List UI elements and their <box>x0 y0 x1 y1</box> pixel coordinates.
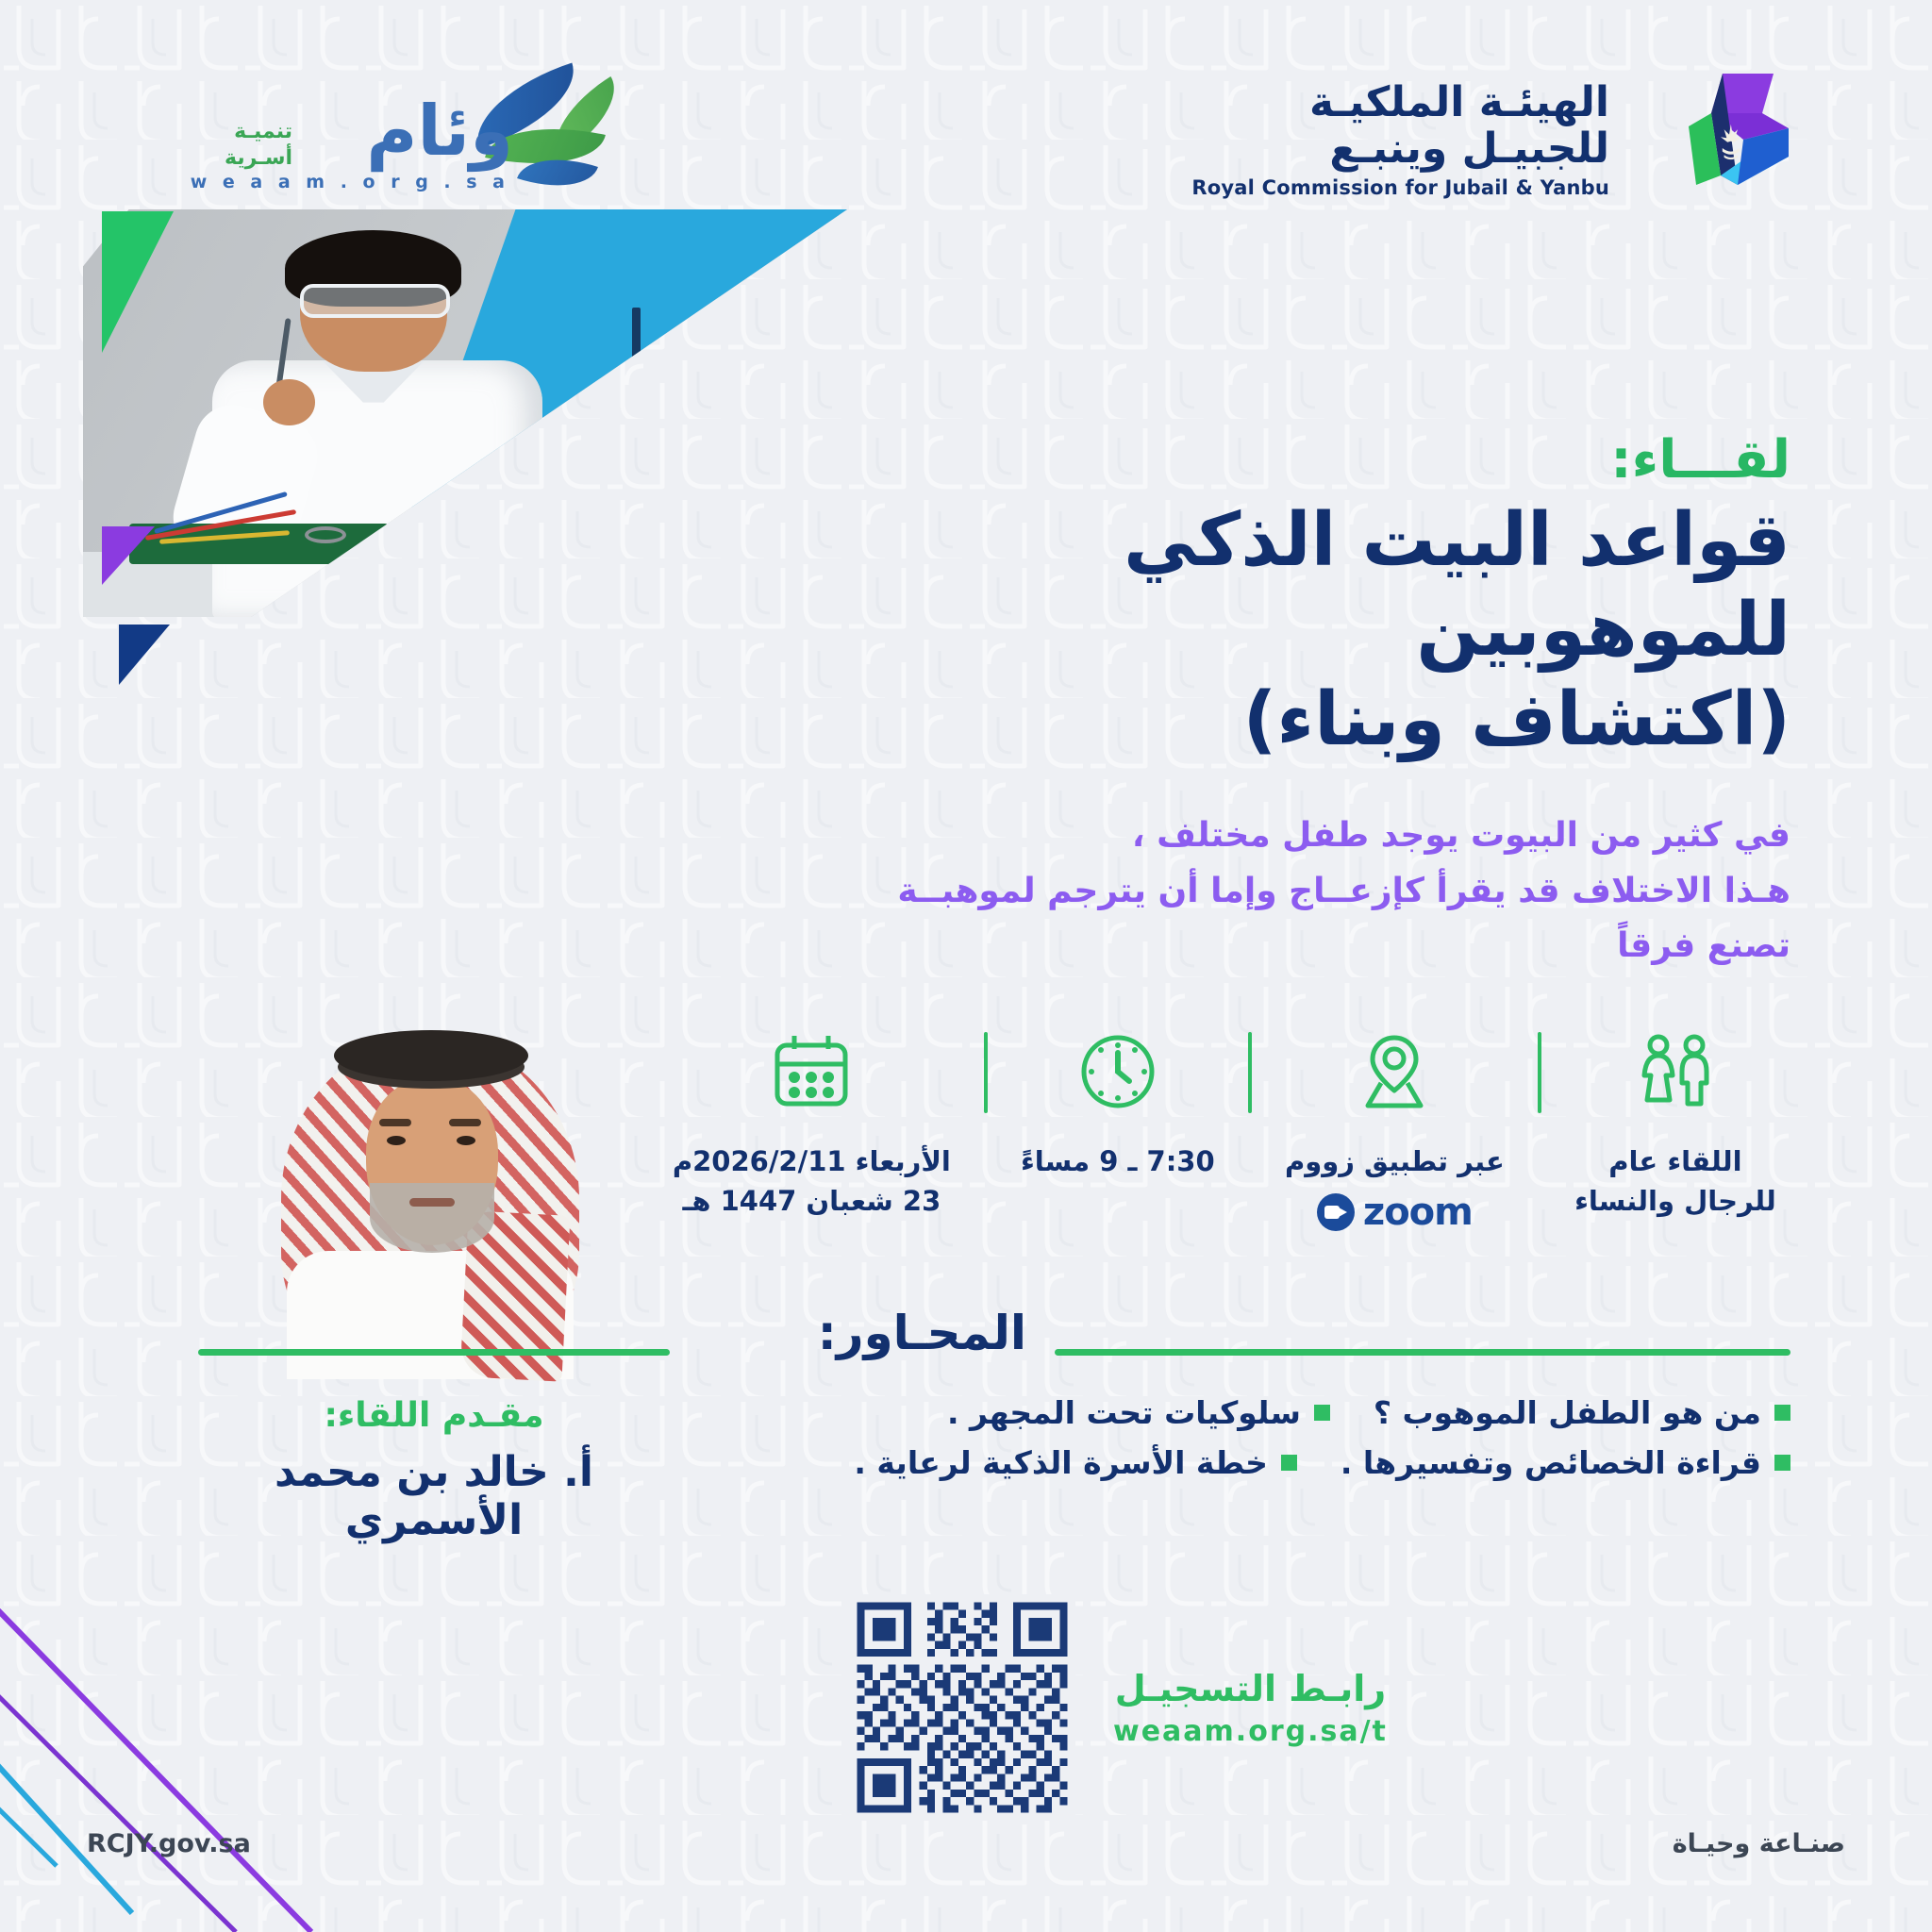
registration-label-block: رابـط التسجيـل weaam.org.sa/t <box>1113 1668 1388 1748</box>
accent-triangle-green <box>102 211 174 353</box>
info-date-line2: 23 شعبان 1447 هـ <box>673 1181 951 1221</box>
info-divider-1 <box>984 1032 988 1113</box>
location-pin-icon <box>1353 1028 1436 1115</box>
info-divider-2 <box>1248 1032 1252 1113</box>
clock-icon <box>1076 1028 1159 1115</box>
bullet-icon <box>1314 1405 1330 1421</box>
zoom-logo: zoom <box>1317 1191 1473 1234</box>
topic-item: سلوكيات تحت المجهر . <box>947 1394 1330 1431</box>
speaker-eye-left <box>387 1136 406 1145</box>
title-block: لقـــاء: قواعد البيت الذكي للموهوبين (اك… <box>838 429 1790 974</box>
topic-label: قراءة الخصائص وتفسيرها . <box>1341 1444 1761 1481</box>
poster-canvas: وئام w e a a m . o r g . s a تنميـة أسـر… <box>0 0 1932 1932</box>
topics-heading: المحـاور: <box>818 1306 1026 1360</box>
speaker-beard <box>370 1183 494 1253</box>
rcjy-logo: الهيئـة الملكيـة للجبيـل وينبـع Royal Co… <box>1191 70 1790 199</box>
bullet-icon <box>1774 1455 1790 1471</box>
event-title: قواعد البيت الذكي للموهوبين (اكتشاف وبنا… <box>838 496 1790 765</box>
hero-image-block <box>83 209 847 617</box>
zoom-wordmark: zoom <box>1363 1191 1473 1234</box>
info-divider-3 <box>1538 1032 1541 1113</box>
registration-qr-code[interactable] <box>849 1594 1075 1821</box>
info-audience-text: اللقاء عام للرجال والنساء <box>1574 1141 1776 1221</box>
calendar-icon <box>770 1028 853 1115</box>
boy-left-hand <box>263 379 314 425</box>
rcjy-emblem-icon <box>1630 70 1790 191</box>
rcjy-arabic-line1: الهيئـة الملكيـة <box>1191 79 1609 125</box>
event-title-line1: قواعد البيت الذكي للموهوبين <box>1124 498 1790 673</box>
weaam-tagline-line1: تنميـة <box>234 120 292 143</box>
info-time-text: 7:30 ـ 9 مساءً <box>1021 1141 1215 1181</box>
topics-row-1: من هو الطفل الموهوب ؟ سلوكيات تحت المجهر… <box>960 1394 1790 1431</box>
lab-stand-icon <box>632 308 641 536</box>
presenter-block: مقـدم اللقاء: أ. خالد بن محمد الأسمري <box>198 1396 670 1544</box>
info-audience-line1: اللقاء عام <box>1574 1141 1776 1181</box>
info-platform-text: عبر تطبيق زووم <box>1285 1141 1505 1181</box>
topic-item: قراءة الخصائص وتفسيرها . <box>1341 1444 1790 1481</box>
event-kicker: لقـــاء: <box>838 429 1790 491</box>
topics-row-2: قراءة الخصائص وتفسيرها . خطة الأسرة الذك… <box>960 1444 1790 1481</box>
rcjy-english-name: Royal Commission for Jubail & Yanbu <box>1191 176 1609 199</box>
presenter-rule <box>198 1349 670 1356</box>
rcjy-arabic-line2: للجبيـل وينبـع <box>1191 125 1609 172</box>
bullet-icon <box>1281 1455 1297 1471</box>
event-description: في كثير من البيوت يوجد طفل مختلف ، هـذا … <box>838 808 1790 974</box>
accent-triangle-purple <box>102 526 155 585</box>
speaker-portrait <box>260 998 600 1375</box>
info-time-line1: 7:30 ـ 9 مساءً <box>1021 1141 1215 1181</box>
topic-label: من هو الطفل الموهوب ؟ <box>1374 1394 1761 1431</box>
presenter-label: مقـدم اللقاء: <box>198 1396 670 1435</box>
speaker-brow-right <box>449 1119 481 1126</box>
info-platform-line1: عبر تطبيق زووم <box>1285 1141 1505 1181</box>
rcjy-text-block: الهيئـة الملكيـة للجبيـل وينبـع Royal Co… <box>1191 70 1609 199</box>
safety-goggles-icon <box>300 284 450 319</box>
info-item-platform: عبر تطبيق زووم zoom <box>1271 1028 1519 1234</box>
event-description-line1: في كثير من البيوت يوجد طفل مختلف ، <box>838 808 1790 863</box>
topic-item: من هو الطفل الموهوب ؟ <box>1374 1394 1790 1431</box>
topic-item: خطة الأسرة الذكية لرعاية . <box>854 1444 1296 1481</box>
lab-flask-icon <box>527 479 595 560</box>
info-item-time: 7:30 ـ 9 مساءً <box>1007 1028 1229 1181</box>
info-date-line1: الأربعاء 2026/2/11م <box>673 1141 951 1181</box>
topic-label: سلوكيات تحت المجهر . <box>947 1394 1301 1431</box>
registration-title: رابـط التسجيـل <box>1113 1668 1388 1709</box>
people-icon <box>1632 1028 1719 1115</box>
info-item-date: الأربعاء 2026/2/11م 23 شعبان 1447 هـ <box>658 1028 965 1221</box>
zoom-camera-icon <box>1317 1193 1355 1231</box>
speaker-igal <box>334 1030 528 1081</box>
topics-list: من هو الطفل الموهوب ؟ سلوكيات تحت المجهر… <box>960 1394 1790 1494</box>
boy-right-hand <box>487 521 549 563</box>
info-audience-line2: للرجال والنساء <box>1574 1181 1776 1221</box>
footer-slogan: صنـاعة وحيـاة <box>1673 1829 1845 1858</box>
info-date-text: الأربعاء 2026/2/11م 23 شعبان 1447 هـ <box>673 1141 951 1221</box>
weaam-tagline: تنميـة أسـرية <box>225 119 292 171</box>
weaam-logo: وئام w e a a m . o r g . s a تنميـة أسـر… <box>151 74 604 196</box>
info-item-audience: اللقاء عام للرجال والنساء <box>1560 1028 1790 1221</box>
presenter-name: أ. خالد بن محمد الأسمري <box>198 1448 670 1544</box>
lab-stand-base-icon <box>589 534 702 543</box>
event-info-row: الأربعاء 2026/2/11م 23 شعبان 1447 هـ <box>658 1028 1790 1234</box>
accent-triangle-navy <box>119 625 170 685</box>
hero-photo-boy-in-lab <box>83 209 847 617</box>
weaam-url: w e a a m . o r g . s a <box>191 172 509 192</box>
weaam-tagline-line2: أسـرية <box>225 146 292 170</box>
bullet-icon <box>1774 1405 1790 1421</box>
topics-rule <box>1055 1349 1790 1356</box>
chip-component-secondary <box>450 545 478 564</box>
weaam-wordmark: وئام <box>366 96 513 166</box>
event-description-line2: هـذا الاختلاف قد يقرأ كإزعــاج وإما أن ي… <box>838 864 1790 974</box>
event-title-line2: (اكتشاف وبناء) <box>838 675 1790 765</box>
topic-label: خطة الأسرة الذكية لرعاية . <box>854 1444 1267 1481</box>
speaker-mouth <box>409 1198 455 1207</box>
footer-rcjy-site[interactable]: RCJY.gov.sa <box>87 1829 251 1858</box>
speaker-eye-right <box>457 1136 475 1145</box>
chip-component <box>396 545 440 568</box>
speaker-brow-left <box>379 1119 411 1126</box>
registration-url[interactable]: weaam.org.sa/t <box>1113 1715 1388 1748</box>
